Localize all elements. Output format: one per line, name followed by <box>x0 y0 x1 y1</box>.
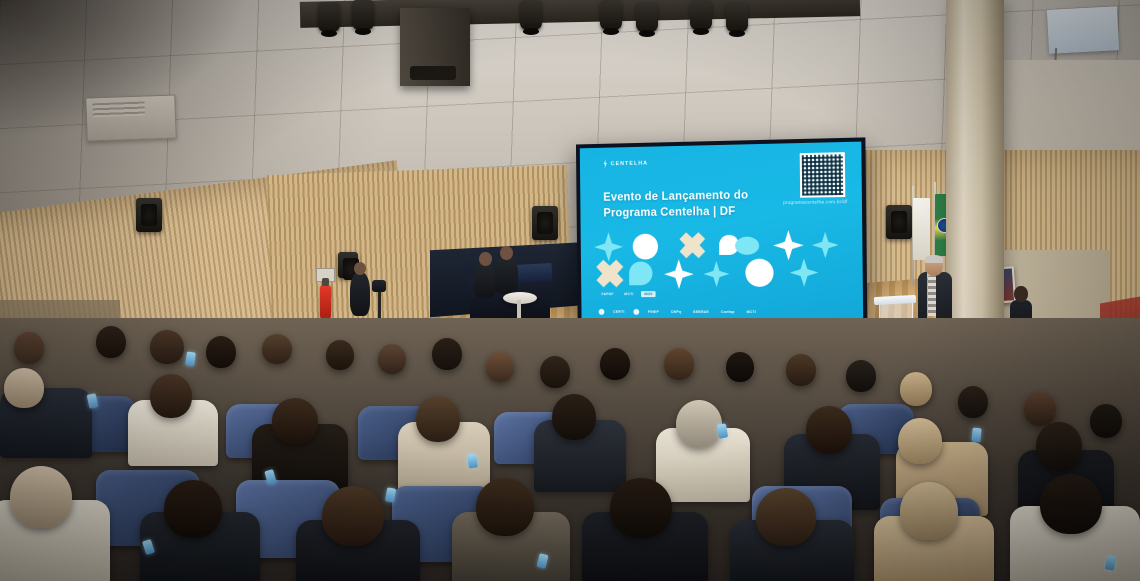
ceiling-light-panel <box>1047 6 1119 54</box>
attendee-head <box>206 336 236 368</box>
slide-title: Evento de Lançamento do Programa Centelh… <box>603 188 748 221</box>
attendee-head <box>540 356 570 388</box>
shape-x-icon <box>596 260 623 288</box>
ceiling-projector-icon <box>400 8 470 86</box>
slide-brand-logo: CENTELHA <box>603 159 648 169</box>
attendee-head <box>900 372 932 406</box>
attendee-head <box>898 418 942 464</box>
attendee-head <box>10 466 72 528</box>
stage-light-icon <box>636 2 658 32</box>
camera-on-tripod-icon <box>372 280 386 292</box>
sponsor-logo: CERTI <box>610 309 627 315</box>
attendee-head <box>354 262 366 275</box>
stage-light-icon <box>352 0 374 30</box>
attendee-head <box>1036 422 1082 470</box>
sponsor-logo: FAPDF <box>598 291 616 297</box>
slide-decorative-shapes <box>590 230 853 290</box>
spark-icon <box>603 159 608 168</box>
shape-star4-icon <box>594 232 623 262</box>
wall-speaker-icon <box>532 206 558 240</box>
attendee-standing-left <box>350 272 370 316</box>
stage-light-icon <box>318 2 340 32</box>
attendee-head <box>846 360 876 392</box>
shape-star4-icon <box>664 259 694 289</box>
shape-circle-icon <box>745 259 773 287</box>
slide-url: programacentelha.com.br/df <box>783 199 847 205</box>
slide-title-line-2: Programa Centelha | DF <box>603 204 748 221</box>
presenter-hair <box>925 255 943 263</box>
slide-surface: CENTELHA Evento de Lançamento do Program… <box>580 142 863 324</box>
attendee-head <box>4 368 44 408</box>
attendee-head <box>416 396 460 442</box>
attendee-head <box>150 330 184 364</box>
attendee-head <box>150 374 192 418</box>
qr-code-icon <box>800 152 846 198</box>
av-equipment-icon <box>516 263 553 283</box>
stage-light-icon <box>726 2 748 32</box>
shape-star4-icon <box>773 230 804 261</box>
technician-head <box>500 246 513 260</box>
attendee-head <box>96 326 126 358</box>
attendee-head <box>676 400 722 448</box>
attendee-head <box>378 344 406 374</box>
attendee-head <box>756 488 816 546</box>
technician-person <box>494 256 518 294</box>
led-presentation-screen: CENTELHA Evento de Lançamento do Program… <box>576 137 867 327</box>
attendee-head <box>14 332 44 364</box>
sponsor-row-secondary: CERTI FINEP CNPq SEBRAE Confap MCTI <box>599 309 760 315</box>
technician-person <box>474 262 496 298</box>
technician-head <box>479 252 492 266</box>
attendee-head <box>164 480 222 538</box>
sponsor-logo: SEBRAE <box>690 309 712 315</box>
attendee-head <box>432 338 462 370</box>
sponsor-logo: GOV <box>641 291 655 297</box>
attendee-head <box>1090 404 1122 438</box>
attendee-head <box>272 398 318 444</box>
sponsor-logo: Confap <box>718 309 738 315</box>
attendee-head <box>322 486 384 546</box>
attendee-head <box>476 478 534 536</box>
attendee-head <box>486 352 514 382</box>
sponsor-logo: CNPq <box>668 309 684 315</box>
shape-star4-icon <box>812 232 839 259</box>
slide-brand-name: CENTELHA <box>611 160 649 167</box>
attendee-head <box>262 334 292 364</box>
wall-speaker-icon <box>886 205 912 239</box>
auditorium-photo: CENTELHA Evento de Lançamento do Program… <box>0 0 1140 581</box>
stage-light-icon <box>690 0 712 30</box>
shape-star4-icon <box>790 258 819 286</box>
attendee-head <box>600 348 630 380</box>
attendee-head <box>900 482 958 540</box>
air-conditioning-vent-icon <box>85 94 176 141</box>
sponsor-logo: MCTI <box>621 291 636 297</box>
shape-circle-icon <box>735 237 759 255</box>
attendee-head <box>1024 392 1056 426</box>
shape-circle-icon <box>633 234 659 260</box>
sponsor-row-primary: FAPDF MCTI GOV <box>598 291 655 297</box>
stage-light-icon <box>600 0 622 30</box>
sponsor-mark-icon <box>599 309 605 315</box>
attendee-head <box>958 386 988 418</box>
slide-title-line-1: Evento de Lançamento do <box>603 188 748 206</box>
attendee-head <box>1040 474 1102 534</box>
flag-white-left <box>913 198 930 260</box>
standing-person-head <box>1014 286 1028 302</box>
projector-lens-icon <box>410 66 456 80</box>
sponsor-logo: MCTI <box>743 309 759 315</box>
attendee-head <box>786 354 816 386</box>
attendee-head <box>806 406 852 454</box>
attendee-phone[interactable] <box>467 453 478 468</box>
shape-comma-icon <box>629 261 653 285</box>
wall-speaker-icon <box>136 198 162 232</box>
attendee-head <box>552 394 596 440</box>
attendee-head <box>726 352 754 382</box>
shape-x-icon <box>679 232 705 258</box>
shape-star4-icon <box>703 261 729 287</box>
fire-extinguisher-icon <box>320 285 331 319</box>
sponsor-logo: FINEP <box>645 309 662 315</box>
stage-light-icon <box>520 0 542 30</box>
attendee-phone[interactable] <box>971 428 981 443</box>
attendee-head <box>664 348 694 380</box>
attendee-phone[interactable] <box>185 351 196 366</box>
sponsor-mark-icon <box>633 309 639 315</box>
attendee-head <box>610 478 672 538</box>
attendee-head <box>326 340 354 370</box>
